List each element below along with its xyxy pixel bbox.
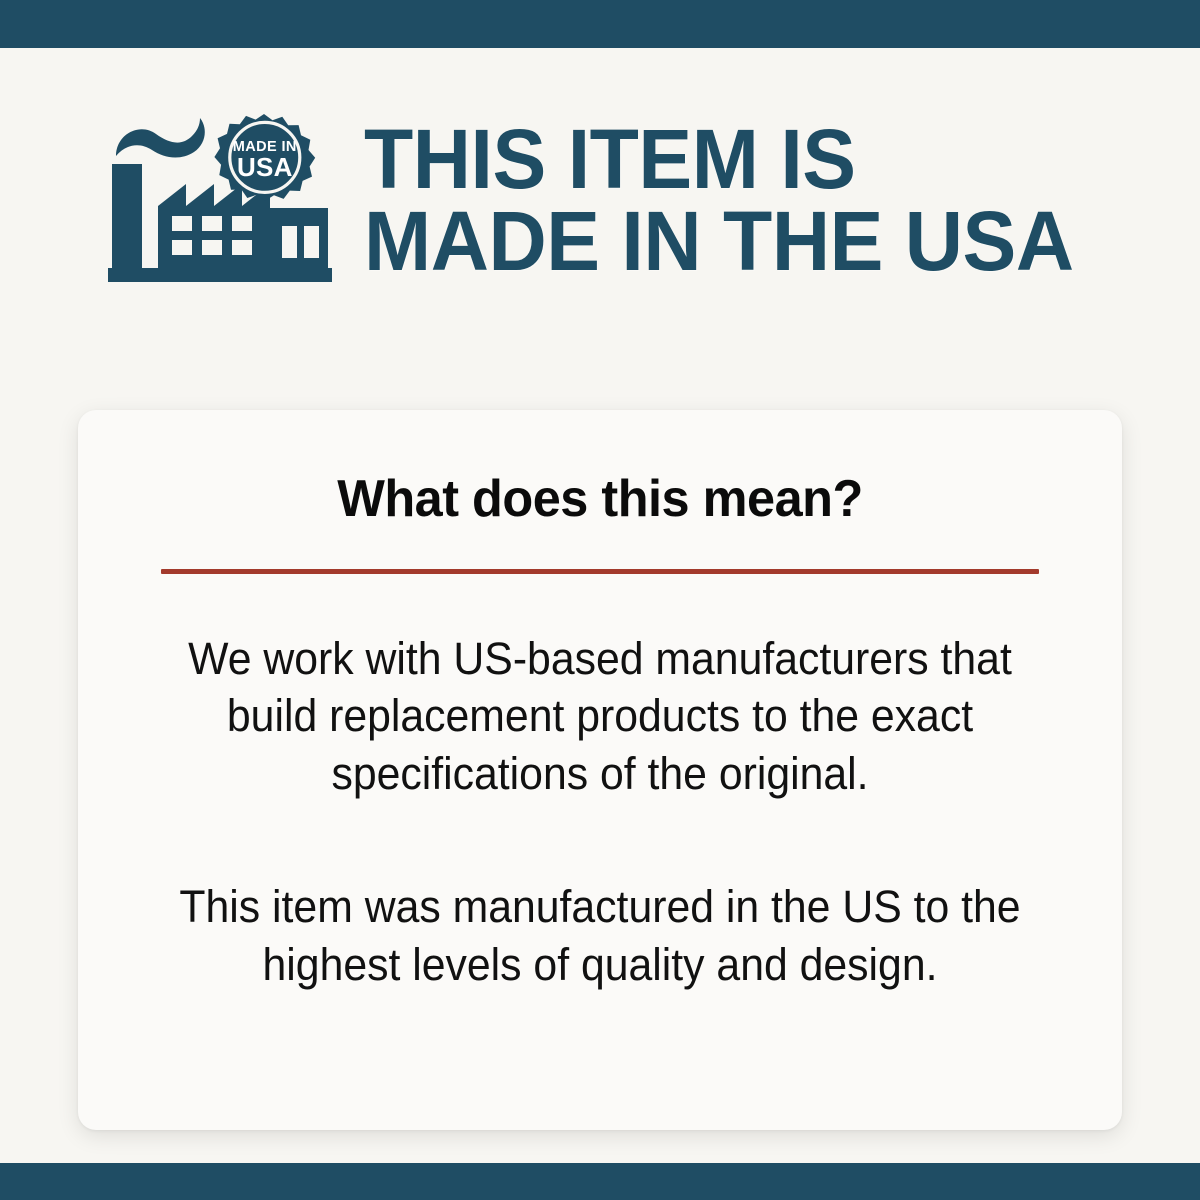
page-title: THIS ITEM IS MADE IN THE USA bbox=[364, 118, 1074, 283]
card-paragraph-1: We work with US-based manufacturers that… bbox=[163, 630, 1037, 803]
seal-usa-text: USA bbox=[237, 152, 293, 182]
ground-base-icon bbox=[108, 268, 332, 282]
header: MADE IN USA THIS ITEM IS MADE IN THE USA bbox=[100, 100, 1160, 300]
bottom-accent-bar bbox=[0, 1163, 1200, 1200]
explanation-card: What does this mean? We work with US-bas… bbox=[78, 410, 1122, 1130]
top-accent-bar bbox=[0, 0, 1200, 48]
factory-with-made-in-usa-badge-icon: MADE IN USA bbox=[100, 110, 338, 290]
smoke-plume-icon bbox=[116, 118, 205, 158]
chimney-icon bbox=[112, 164, 142, 268]
card-heading: What does this mean? bbox=[154, 472, 1046, 527]
made-in-usa-seal-icon: MADE IN USA bbox=[214, 114, 315, 201]
right-building-icon bbox=[270, 208, 328, 268]
page-canvas: MADE IN USA THIS ITEM IS MADE IN THE USA… bbox=[0, 48, 1200, 1163]
card-paragraph-2: This item was manufactured in the US to … bbox=[163, 878, 1037, 993]
red-divider bbox=[161, 569, 1039, 574]
